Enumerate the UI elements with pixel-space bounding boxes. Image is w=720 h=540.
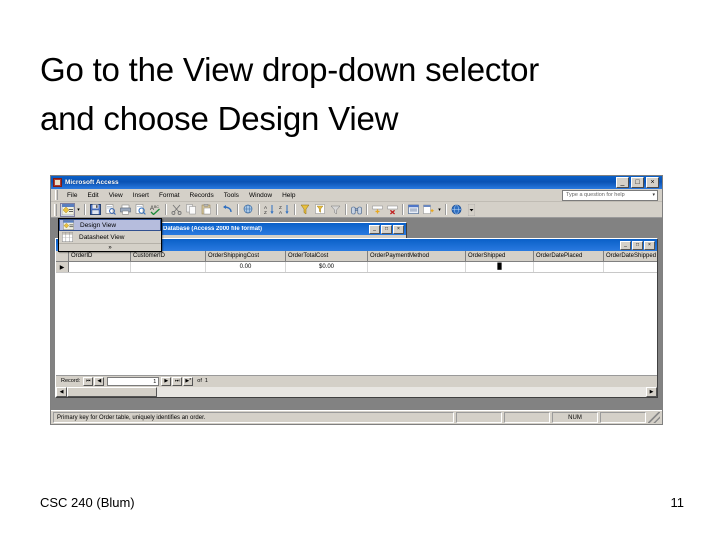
select-all-corner[interactable] xyxy=(56,251,69,261)
new-record-icon xyxy=(372,204,383,215)
horizontal-scrollbar[interactable]: ◀ ▶ xyxy=(56,386,657,397)
cut-button[interactable] xyxy=(169,203,184,217)
datasheet-view-icon xyxy=(60,232,75,243)
toolbar-separator xyxy=(294,204,296,215)
datasheet-empty-area xyxy=(56,273,657,375)
new-object-button[interactable] xyxy=(421,203,436,217)
status-indicator-1 xyxy=(456,412,502,423)
toolbar-grip[interactable] xyxy=(54,204,57,216)
delete-record-icon xyxy=(387,204,398,215)
cell-orderpaymentmethod[interactable] xyxy=(368,262,466,272)
cell-ordertotalcost[interactable]: $0.00 xyxy=(286,262,368,272)
record-total-count: 1 xyxy=(202,378,208,384)
help-question-input[interactable]: Type a question for help ▾ xyxy=(562,190,658,201)
access-application-screenshot: Microsoft Access _ □ × File Edit View In… xyxy=(50,175,663,425)
footer-course-label: CSC 240 (Blum) xyxy=(40,495,135,510)
access-title-bar: Microsoft Access _ □ × xyxy=(51,176,662,189)
column-header-orderid[interactable]: OrderID xyxy=(69,251,131,261)
scissors-icon xyxy=(171,204,182,215)
database-close-button[interactable]: × xyxy=(393,225,404,234)
delete-record-button[interactable] xyxy=(385,203,400,217)
last-record-button[interactable]: ⏭ xyxy=(172,377,182,386)
view-menu-item-design-view[interactable]: Design View xyxy=(59,219,161,231)
toolbar-separator xyxy=(445,204,447,215)
menu-item-file[interactable]: File xyxy=(62,189,82,202)
close-button[interactable]: × xyxy=(646,177,659,188)
clipboard-icon xyxy=(201,204,212,215)
status-indicator-4 xyxy=(600,412,646,423)
column-header-orderdateshipped[interactable]: OrderDateShipped xyxy=(604,251,663,261)
new-object-icon xyxy=(423,204,434,215)
status-indicator-2 xyxy=(504,412,550,423)
cell-orderid[interactable] xyxy=(69,262,131,272)
insert-hyperlink-button[interactable] xyxy=(241,203,256,217)
access-title-text: Microsoft Access xyxy=(65,179,119,186)
table-minimize-button[interactable]: _ xyxy=(620,241,631,250)
scroll-left-button[interactable]: ◀ xyxy=(56,387,67,397)
database-window-title: Database (Access 2000 file format) xyxy=(161,226,262,232)
menu-bar-grip[interactable] xyxy=(55,190,58,200)
design-view-icon xyxy=(62,204,74,215)
footer-page-number: 11 xyxy=(671,495,685,510)
scrollbar-track[interactable] xyxy=(157,387,646,397)
first-record-button[interactable]: ⏮ xyxy=(83,377,93,386)
menu-item-format[interactable]: Format xyxy=(154,189,185,202)
svg-text:BC: BC xyxy=(154,205,159,209)
record-navigation-bar: Record: ⏮ ◀ 1 ▶ ⏭ ▶* of 1 xyxy=(56,375,657,386)
binoculars-icon xyxy=(351,204,362,215)
filter-by-selection-button[interactable] xyxy=(298,203,313,217)
view-dropdown-arrow[interactable]: ▾ xyxy=(75,203,82,217)
access-app-icon xyxy=(53,178,62,187)
maximize-button[interactable]: □ xyxy=(631,177,644,188)
scroll-right-button[interactable]: ▶ xyxy=(646,387,657,397)
spelling-button[interactable]: A BC xyxy=(148,203,163,217)
new-object-arrow[interactable]: ▾ xyxy=(436,203,443,217)
sort-za-icon: Z A xyxy=(279,204,290,215)
view-menu-expand-button[interactable]: » xyxy=(59,243,161,251)
sort-ascending-button[interactable]: A Z xyxy=(262,203,277,217)
toolbar-separator xyxy=(345,204,347,215)
find-button[interactable] xyxy=(349,203,364,217)
slide: Go to the View drop-down selector and ch… xyxy=(0,0,720,540)
help-assistant-icon xyxy=(451,204,462,215)
toolbar-separator xyxy=(258,204,260,215)
toolbar-overflow-icon xyxy=(468,204,475,216)
maximize-icon: □ xyxy=(632,178,643,187)
floppy-disk-icon xyxy=(90,204,101,215)
office-assistant-button[interactable] xyxy=(449,203,464,217)
column-header-ordershippingcost[interactable]: OrderShippingCost xyxy=(206,251,286,261)
funnel-icon xyxy=(330,204,341,215)
cell-ordershippingcost[interactable]: 0.00 xyxy=(206,262,286,272)
funnel-selection-icon xyxy=(300,204,311,215)
datasheet-header-row: OrderID CustomerID OrderShippingCost Ord… xyxy=(56,251,657,262)
design-view-icon xyxy=(61,220,76,231)
toolbar-separator xyxy=(216,204,218,215)
view-menu-label-design-view: Design View xyxy=(76,222,116,229)
chevron-down-icon[interactable]: ▾ xyxy=(652,192,655,198)
toolbar-separator xyxy=(165,204,167,215)
column-header-ordertotalcost[interactable]: OrderTotalCost xyxy=(286,251,368,261)
close-icon: × xyxy=(647,178,658,187)
printer-icon xyxy=(120,204,131,215)
view-menu-label-datasheet-view: Datasheet View xyxy=(75,234,124,241)
table-window-controls: _ □ × xyxy=(620,241,656,250)
database-window-button[interactable] xyxy=(406,203,421,217)
menu-item-window[interactable]: Window xyxy=(244,189,277,202)
column-header-orderdateplaced[interactable]: OrderDatePlaced xyxy=(534,251,604,261)
window-controls: _ □ × xyxy=(616,177,660,188)
previous-record-button[interactable]: ◀ xyxy=(94,377,104,386)
sort-descending-button[interactable]: Z A xyxy=(277,203,292,217)
copy-icon xyxy=(186,204,197,215)
filter-by-form-button[interactable] xyxy=(313,203,328,217)
menu-item-edit[interactable]: Edit xyxy=(82,189,103,202)
cell-orderdateplaced[interactable] xyxy=(534,262,604,272)
save-button[interactable] xyxy=(88,203,103,217)
menu-item-help[interactable]: Help xyxy=(277,189,300,202)
view-dropdown-menu[interactable]: Design View Datasheet View » xyxy=(58,218,162,252)
undo-button[interactable] xyxy=(220,203,235,217)
cell-customerid[interactable] xyxy=(131,262,206,272)
svg-text:A: A xyxy=(279,210,283,215)
status-indicator-num: NUM xyxy=(552,412,598,423)
print-preview-button[interactable] xyxy=(133,203,148,217)
table-row[interactable]: ▶ 0.00 $0.00 █ xyxy=(56,262,657,273)
column-header-customerid[interactable]: CustomerID xyxy=(131,251,206,261)
toolbar-separator xyxy=(402,204,404,215)
access-toolbar: ▾ xyxy=(51,202,662,218)
row-selector-icon[interactable]: ▶ xyxy=(56,262,69,272)
toolbar-separator xyxy=(237,204,239,215)
access-menu-bar: File Edit View Insert Format Records Too… xyxy=(51,189,662,202)
table-close-button[interactable]: × xyxy=(644,241,655,250)
resize-grip-icon[interactable] xyxy=(648,412,660,423)
database-window-icon xyxy=(408,204,419,215)
table-restore-button[interactable]: □ xyxy=(632,241,643,250)
scrollbar-thumb[interactable] xyxy=(67,387,157,397)
view-menu-item-datasheet-view[interactable]: Datasheet View xyxy=(59,231,161,243)
globe-link-icon xyxy=(243,204,254,215)
record-of-label: of xyxy=(194,378,202,384)
new-record-button[interactable] xyxy=(370,203,385,217)
record-label: Record: xyxy=(58,378,83,384)
menu-item-records[interactable]: Records xyxy=(185,189,219,202)
minimize-button[interactable]: _ xyxy=(616,177,629,188)
apply-filter-button[interactable] xyxy=(328,203,343,217)
copy-button[interactable] xyxy=(184,203,199,217)
spell-check-icon: A BC xyxy=(150,204,161,215)
minimize-icon: _ xyxy=(617,178,628,187)
access-status-bar: Primary key for Order table, uniquely id… xyxy=(51,410,662,424)
status-message: Primary key for Order table, uniquely id… xyxy=(53,412,454,423)
toolbar-separator xyxy=(84,204,86,215)
database-restore-button[interactable]: □ xyxy=(381,225,392,234)
current-record-input[interactable]: 1 xyxy=(107,377,159,386)
filter-form-icon xyxy=(315,204,326,215)
cell-orderdateshipped[interactable] xyxy=(604,262,663,272)
sort-az-icon: A Z xyxy=(264,204,275,215)
help-question-placeholder: Type a question for help xyxy=(566,192,625,198)
view-button[interactable] xyxy=(60,203,75,217)
file-search-icon xyxy=(105,204,116,215)
toolbar-options-button[interactable] xyxy=(464,203,479,217)
page-title: Go to the View drop-down selector and ch… xyxy=(40,45,680,143)
new-record-nav-button[interactable]: ▶* xyxy=(183,377,193,386)
column-header-ordershipped[interactable]: OrderShipped xyxy=(466,251,534,261)
menu-item-view[interactable]: View xyxy=(104,189,128,202)
file-search-button[interactable] xyxy=(103,203,118,217)
datasheet-grid: OrderID CustomerID OrderShippingCost Ord… xyxy=(56,251,657,397)
table-datasheet-window[interactable]: _ □ × OrderID CustomerID OrderShippingCo… xyxy=(55,238,658,398)
print-preview-icon xyxy=(135,204,146,215)
database-minimize-button[interactable]: _ xyxy=(369,225,380,234)
database-window-controls: _ □ × xyxy=(369,225,405,234)
database-window-title-bar: Database (Access 2000 file format) _ □ × xyxy=(160,223,406,235)
column-header-orderpaymentmethod[interactable]: OrderPaymentMethod xyxy=(368,251,466,261)
svg-text:Z: Z xyxy=(264,210,267,215)
menu-item-tools[interactable]: Tools xyxy=(219,189,244,202)
menu-item-insert[interactable]: Insert xyxy=(128,189,154,202)
undo-arrow-icon xyxy=(222,204,233,215)
cell-ordershipped[interactable]: █ xyxy=(466,262,534,272)
paste-button[interactable] xyxy=(199,203,214,217)
print-button[interactable] xyxy=(118,203,133,217)
next-record-button[interactable]: ▶ xyxy=(161,377,171,386)
toolbar-separator xyxy=(366,204,368,215)
